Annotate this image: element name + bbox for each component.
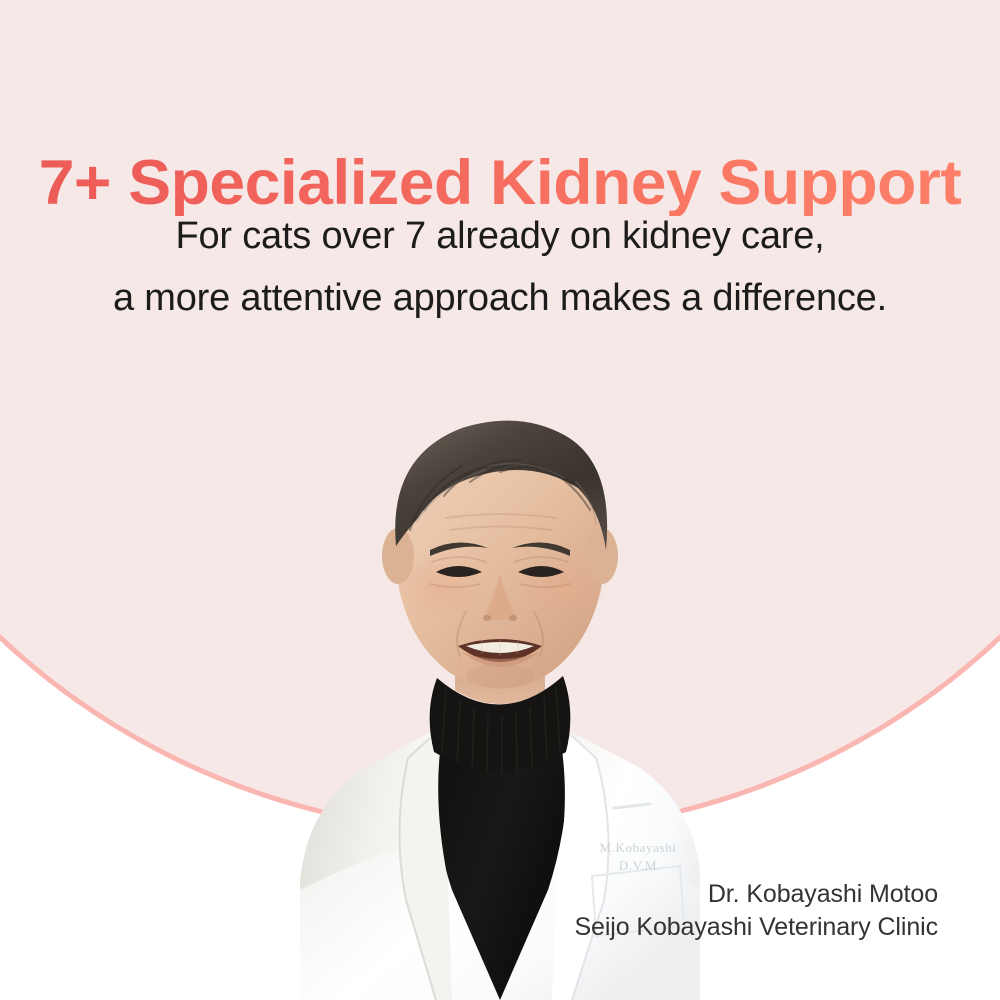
subtitle: For cats over 7 already on kidney care, …	[0, 206, 1000, 329]
credit-doctor-name: Dr. Kobayashi Motoo	[574, 878, 938, 911]
subtitle-line-1: For cats over 7 already on kidney care,	[0, 206, 1000, 268]
credit-block: Dr. Kobayashi Motoo Seijo Kobayashi Vete…	[574, 878, 938, 944]
subtitle-line-2: a more attentive approach makes a differ…	[0, 268, 1000, 330]
promo-card: M.Kobayashi D.V.M	[0, 0, 1000, 1000]
credit-clinic-name: Seijo Kobayashi Veterinary Clinic	[574, 911, 938, 944]
